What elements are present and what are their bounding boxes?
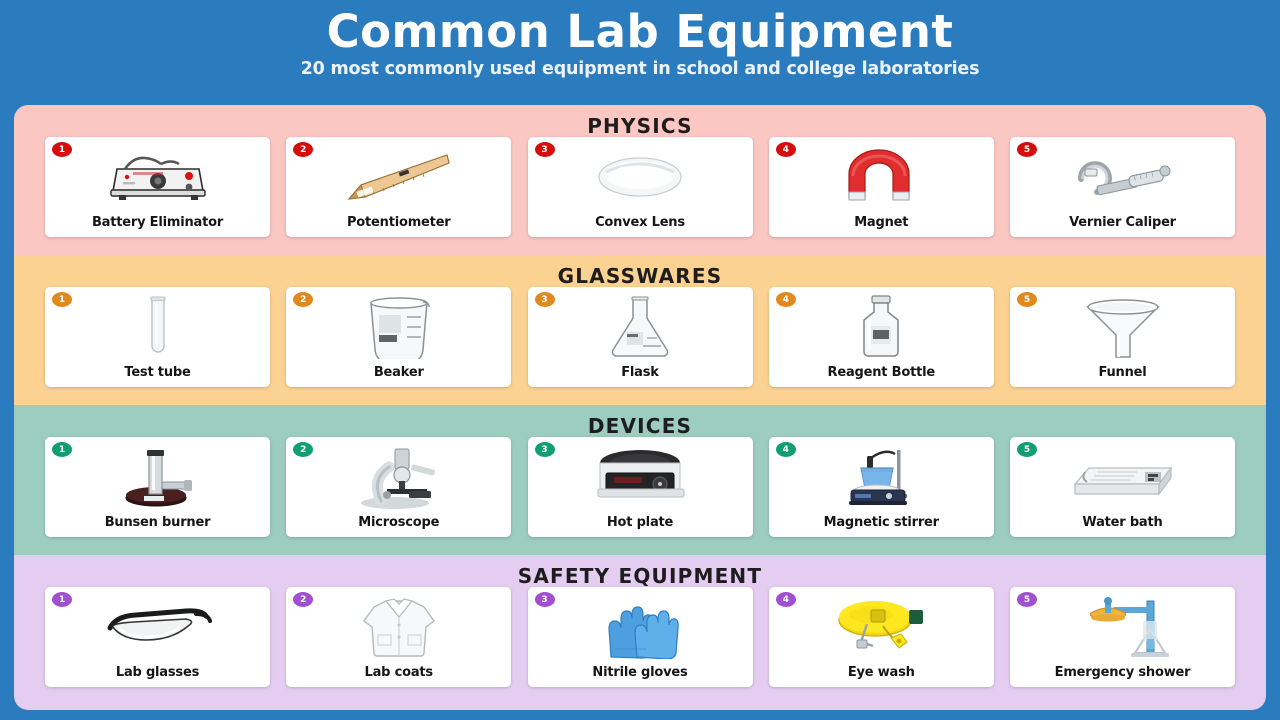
battery-eliminator-icon bbox=[45, 141, 270, 213]
nitrile-gloves-icon bbox=[528, 591, 753, 663]
equipment-card[interactable]: 3 Nitrile gloves bbox=[528, 587, 753, 687]
equipment-card[interactable]: 3 Flask bbox=[528, 287, 753, 387]
convex-lens-icon bbox=[528, 141, 753, 213]
card-number-badge: 4 bbox=[776, 142, 796, 157]
section-physics: PHYSICS1 Battery Eliminator2 Potentiomet… bbox=[14, 105, 1266, 255]
funnel-icon bbox=[1010, 291, 1235, 363]
equipment-label: Vernier Caliper bbox=[1069, 215, 1176, 237]
equipment-label: Lab coats bbox=[365, 665, 433, 687]
card-number-badge: 5 bbox=[1017, 292, 1037, 307]
vernier-caliper-icon bbox=[1010, 141, 1235, 213]
equipment-card[interactable]: 5 Vernier Caliper bbox=[1010, 137, 1235, 237]
section-title: SAFETY EQUIPMENT bbox=[14, 555, 1266, 587]
section-title: GLASSWARES bbox=[14, 255, 1266, 287]
card-number-badge: 4 bbox=[776, 442, 796, 457]
microscope-icon bbox=[286, 441, 511, 513]
emergency-shower-icon bbox=[1010, 591, 1235, 663]
equipment-card[interactable]: 5 Emergency shower bbox=[1010, 587, 1235, 687]
poster-header: Common Lab Equipment 20 most commonly us… bbox=[0, 0, 1280, 79]
sections-board: PHYSICS1 Battery Eliminator2 Potentiomet… bbox=[14, 105, 1266, 710]
bunsen-burner-icon bbox=[45, 441, 270, 513]
card-number-badge: 5 bbox=[1017, 442, 1037, 457]
equipment-label: Beaker bbox=[374, 365, 424, 387]
page-subtitle: 20 most commonly used equipment in schoo… bbox=[0, 59, 1280, 79]
equipment-label: Convex Lens bbox=[595, 215, 685, 237]
horseshoe-magnet-icon bbox=[769, 141, 994, 213]
equipment-card[interactable]: 1 Lab glasses bbox=[45, 587, 270, 687]
equipment-label: Hot plate bbox=[607, 515, 673, 537]
magnetic-stirrer-icon bbox=[769, 441, 994, 513]
equipment-card[interactable]: 5 Funnel bbox=[1010, 287, 1235, 387]
water-bath-icon bbox=[1010, 441, 1235, 513]
card-row: 1 Test tube2 Beaker3 Flask4 Reagent Bott… bbox=[14, 287, 1266, 387]
reagent-bottle-icon bbox=[769, 291, 994, 363]
section-title: PHYSICS bbox=[14, 105, 1266, 137]
equipment-label: Lab glasses bbox=[116, 665, 199, 687]
equipment-card[interactable]: 2 Potentiometer bbox=[286, 137, 511, 237]
eye-wash-icon bbox=[769, 591, 994, 663]
beaker-icon bbox=[286, 291, 511, 363]
card-row: 1 Lab glasses2 Lab coats3 Nitrile gloves… bbox=[14, 587, 1266, 687]
infographic-poster: Common Lab Equipment 20 most commonly us… bbox=[0, 0, 1280, 720]
equipment-label: Flask bbox=[621, 365, 659, 387]
potentiometer-icon bbox=[286, 141, 511, 213]
lab-coat-icon bbox=[286, 591, 511, 663]
equipment-card[interactable]: 4 Eye wash bbox=[769, 587, 994, 687]
card-number-badge: 1 bbox=[52, 142, 72, 157]
card-row: 1 Battery Eliminator2 Potentiometer3 Con… bbox=[14, 137, 1266, 237]
equipment-card[interactable]: 1 Test tube bbox=[45, 287, 270, 387]
equipment-label: Water bath bbox=[1082, 515, 1162, 537]
section-devices: DEVICES1 Bunsen burner2 Microscope3 Hot … bbox=[14, 405, 1266, 555]
card-number-badge: 4 bbox=[776, 592, 796, 607]
card-number-badge: 3 bbox=[535, 442, 555, 457]
equipment-label: Reagent Bottle bbox=[828, 365, 935, 387]
equipment-label: Magnet bbox=[854, 215, 908, 237]
page-title: Common Lab Equipment bbox=[0, 8, 1280, 55]
card-number-badge: 1 bbox=[52, 292, 72, 307]
equipment-label: Bunsen burner bbox=[105, 515, 211, 537]
card-number-badge: 4 bbox=[776, 292, 796, 307]
equipment-card[interactable]: 5 Water bath bbox=[1010, 437, 1235, 537]
equipment-card[interactable]: 3 Hot plate bbox=[528, 437, 753, 537]
equipment-card[interactable]: 1 Bunsen burner bbox=[45, 437, 270, 537]
equipment-card[interactable]: 4 Magnetic stirrer bbox=[769, 437, 994, 537]
equipment-card[interactable]: 4 Magnet bbox=[769, 137, 994, 237]
card-number-badge: 5 bbox=[1017, 592, 1037, 607]
equipment-label: Nitrile gloves bbox=[592, 665, 687, 687]
card-number-badge: 3 bbox=[535, 292, 555, 307]
equipment-card[interactable]: 2 Beaker bbox=[286, 287, 511, 387]
card-number-badge: 1 bbox=[52, 592, 72, 607]
equipment-label: Battery Eliminator bbox=[92, 215, 223, 237]
safety-goggles-icon bbox=[45, 591, 270, 663]
section-title: DEVICES bbox=[14, 405, 1266, 437]
equipment-card[interactable]: 2 Microscope bbox=[286, 437, 511, 537]
card-number-badge: 5 bbox=[1017, 142, 1037, 157]
equipment-card[interactable]: 1 Battery Eliminator bbox=[45, 137, 270, 237]
card-row: 1 Bunsen burner2 Microscope3 Hot plate4 … bbox=[14, 437, 1266, 537]
card-number-badge: 3 bbox=[535, 142, 555, 157]
equipment-card[interactable]: 4 Reagent Bottle bbox=[769, 287, 994, 387]
equipment-label: Potentiometer bbox=[347, 215, 451, 237]
test-tube-icon bbox=[45, 291, 270, 363]
equipment-label: Eye wash bbox=[848, 665, 915, 687]
equipment-label: Funnel bbox=[1098, 365, 1146, 387]
equipment-card[interactable]: 2 Lab coats bbox=[286, 587, 511, 687]
section-glasswares: GLASSWARES1 Test tube2 Beaker3 Flask4 Re… bbox=[14, 255, 1266, 405]
equipment-card[interactable]: 3 Convex Lens bbox=[528, 137, 753, 237]
card-number-badge: 1 bbox=[52, 442, 72, 457]
card-number-badge: 3 bbox=[535, 592, 555, 607]
section-safety-equipment: SAFETY EQUIPMENT1 Lab glasses2 Lab coats… bbox=[14, 555, 1266, 710]
hot-plate-icon bbox=[528, 441, 753, 513]
equipment-label: Microscope bbox=[358, 515, 439, 537]
equipment-label: Magnetic stirrer bbox=[824, 515, 939, 537]
conical-flask-icon bbox=[528, 291, 753, 363]
equipment-label: Test tube bbox=[124, 365, 190, 387]
equipment-label: Emergency shower bbox=[1055, 665, 1191, 687]
